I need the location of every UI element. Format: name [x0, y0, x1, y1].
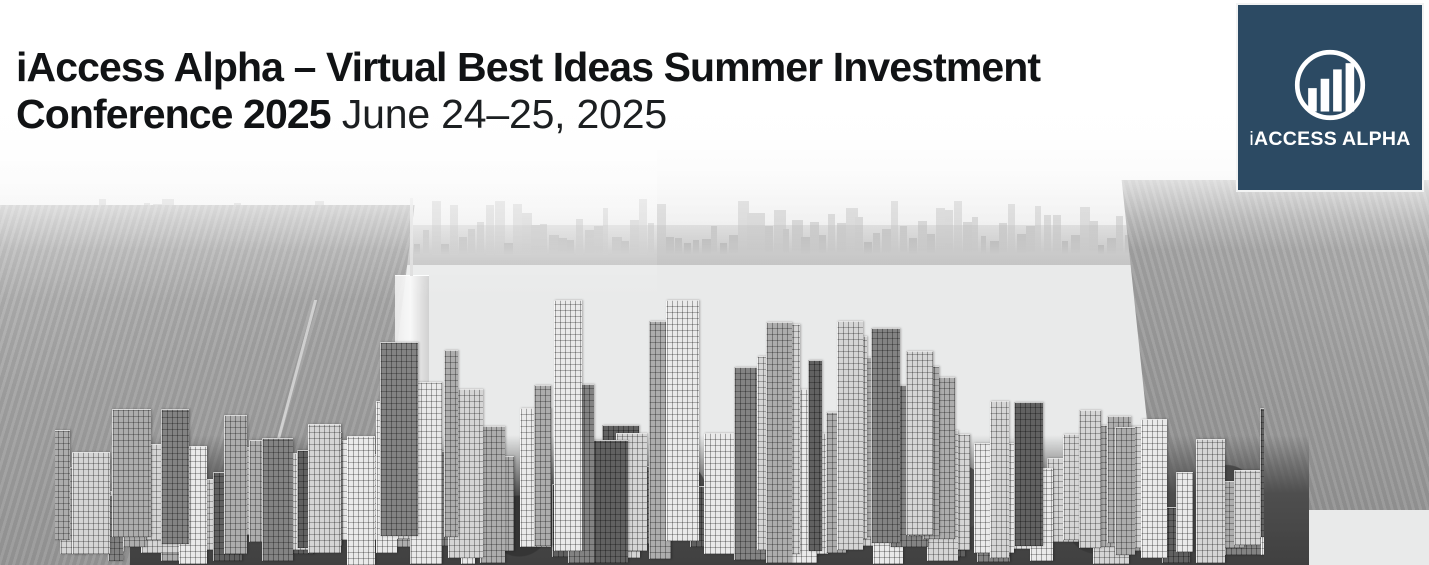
bar-chart-in-circle-icon [1291, 46, 1369, 124]
conference-date-text: June 24–25, 2025 [331, 91, 667, 137]
logo-wordmark-rest: ACCESS ALPHA [1254, 128, 1411, 150]
page-title: iAccess Alpha – Virtual Best Ideas Summe… [16, 44, 1156, 138]
iaccess-alpha-logo[interactable]: iACCESS ALPHA [1236, 3, 1424, 192]
conference-banner: iAccess Alpha – Virtual Best Ideas Summe… [0, 0, 1429, 565]
logo-wordmark: iACCESS ALPHA [1249, 130, 1410, 150]
